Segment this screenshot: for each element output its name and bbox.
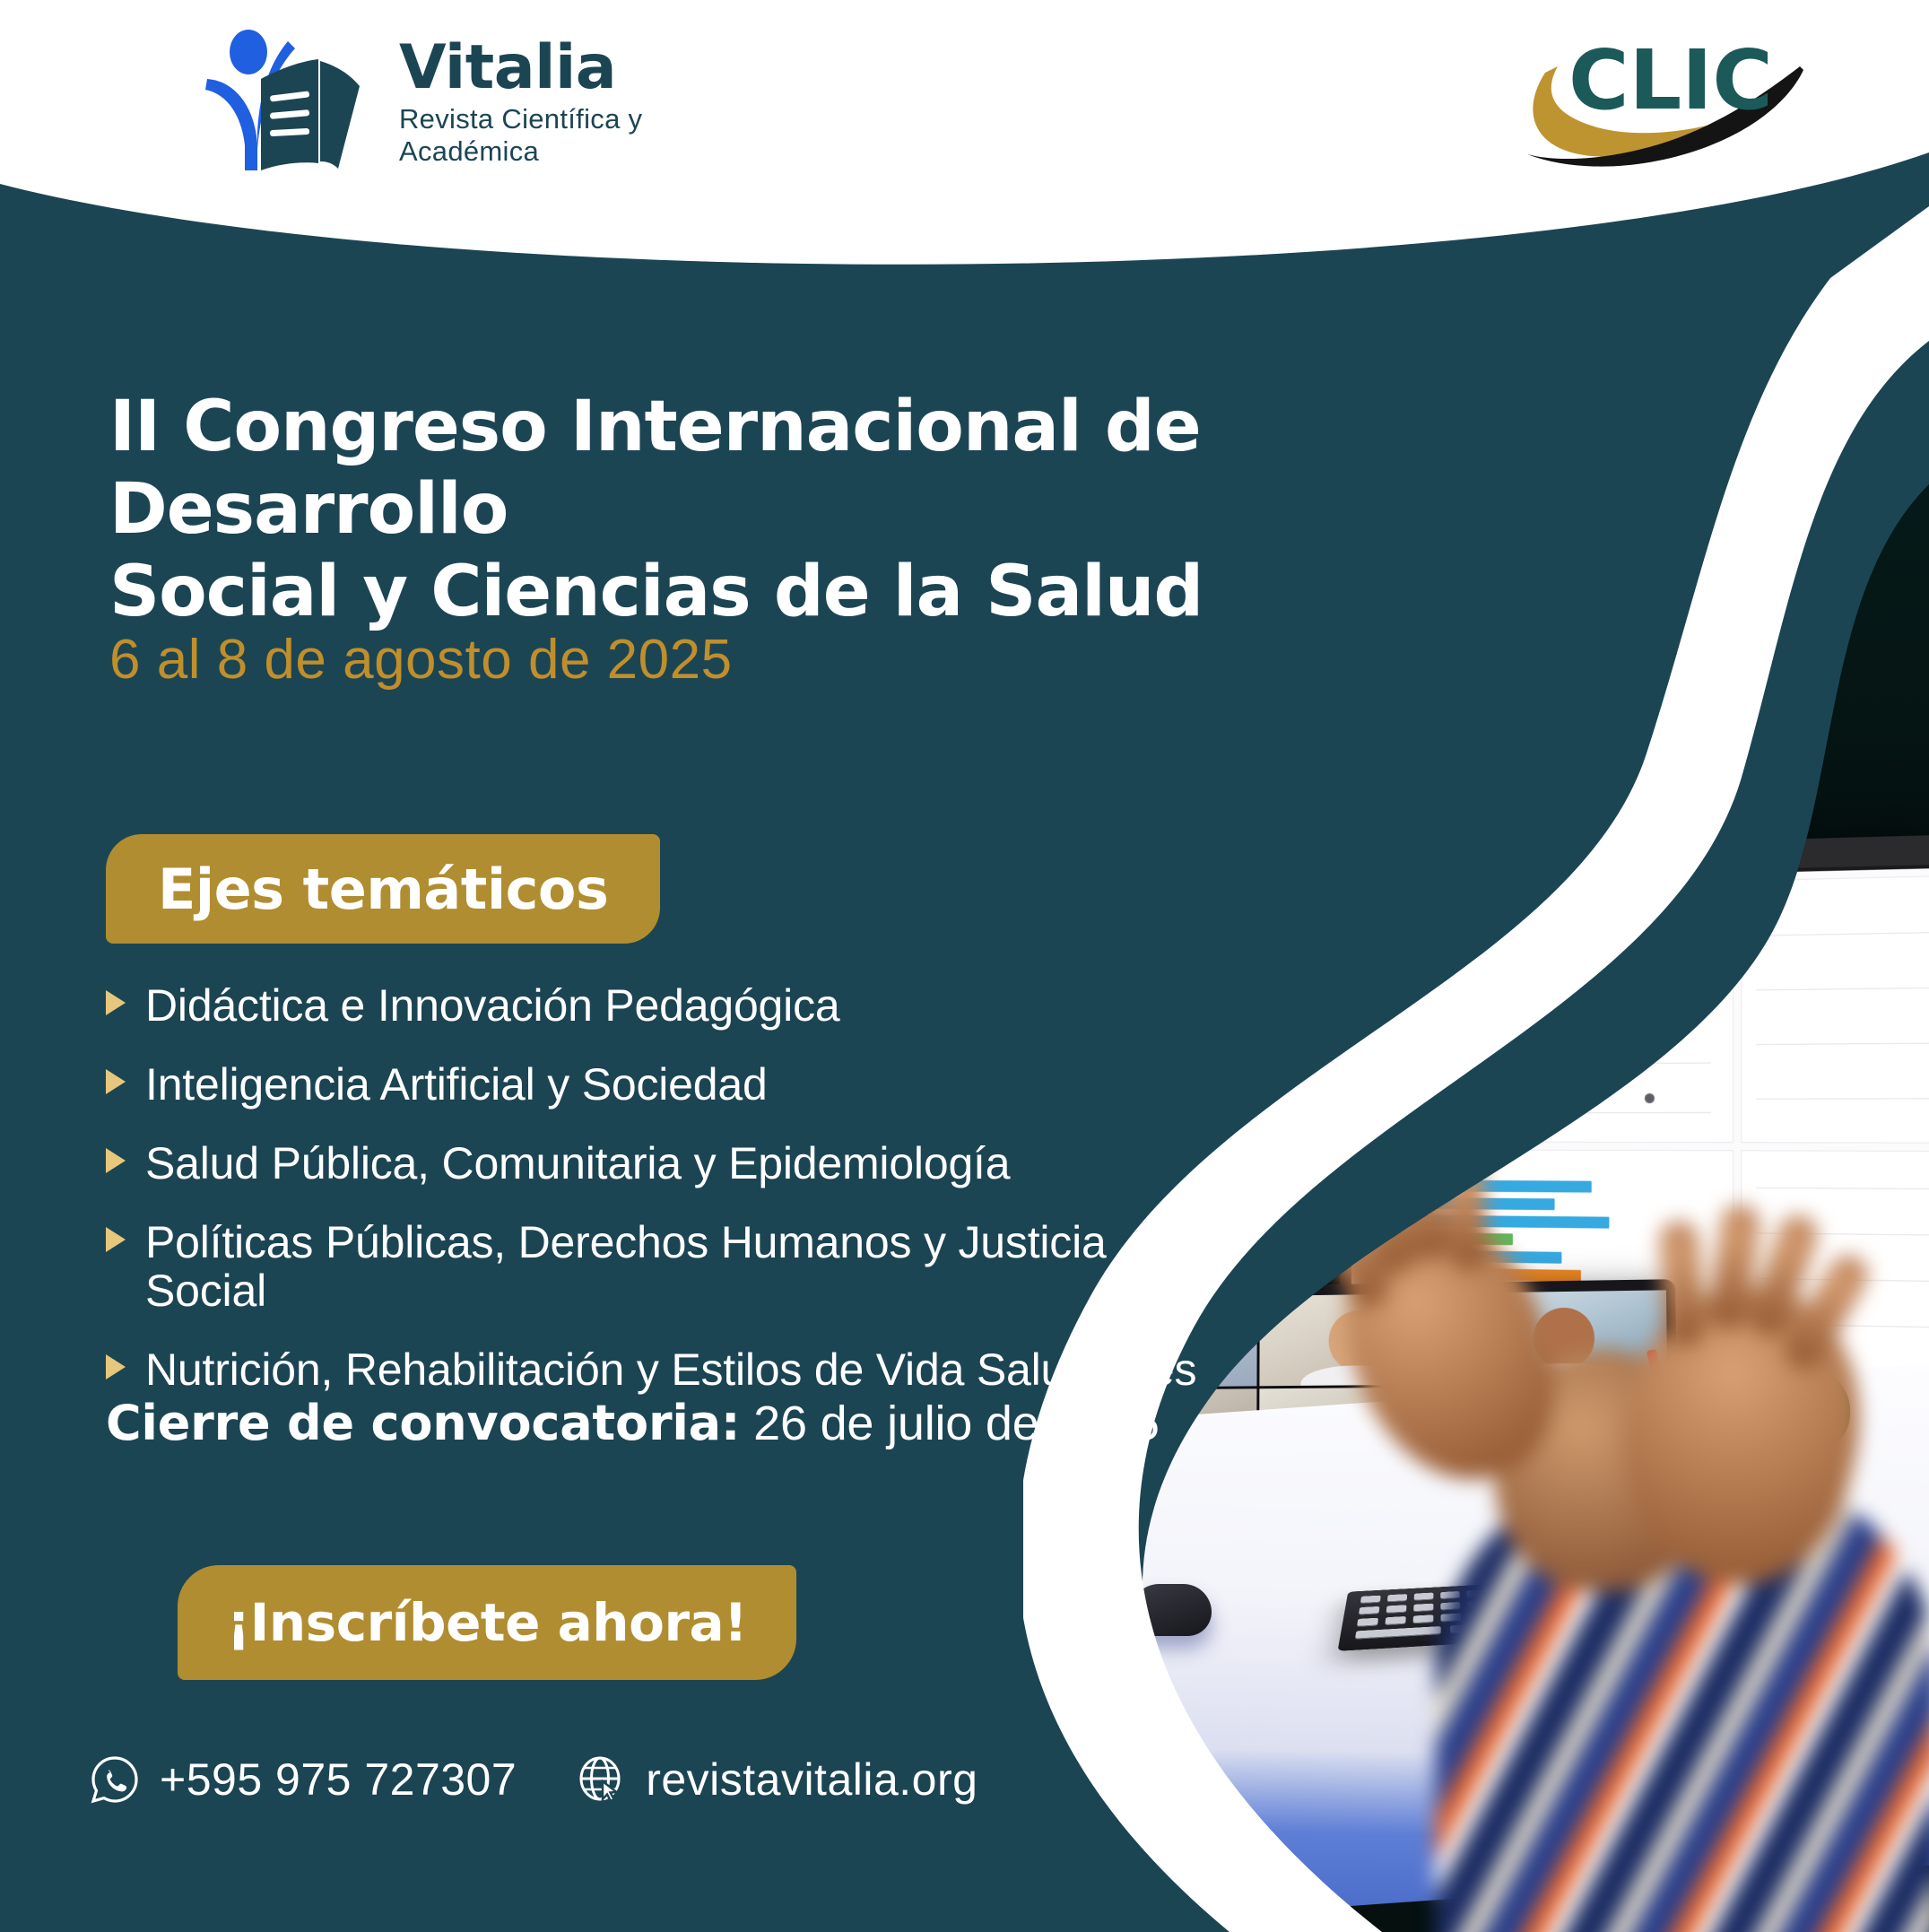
- topic-label: Inteligencia Artificial y Sociedad: [145, 1060, 768, 1109]
- ceiling-beam: [1265, 358, 1320, 629]
- title-line-2: Social y Ciencias de la Salud: [109, 552, 1203, 632]
- list-item: Nutrición, Rehabilitación y Estilos de V…: [106, 1345, 1200, 1394]
- topics-badge: Ejes temáticos: [106, 834, 660, 944]
- triangle-bullet-icon: [106, 1227, 126, 1252]
- topic-label: Salud Pública, Comunitaria y Epidemiolog…: [145, 1139, 1010, 1188]
- whatsapp-number: +595 975 727307: [160, 1754, 517, 1806]
- poster-canvas: Market Growth and Control: [0, 0, 1929, 1932]
- person-book-logo-icon: [202, 27, 372, 170]
- topic-label: Didáctica e Innovación Pedagógica: [145, 981, 839, 1030]
- window-dot-icon: [1388, 859, 1396, 868]
- website-url: revistavitalia.org: [646, 1754, 978, 1806]
- submission-deadline: Cierre de convocatoria: 26 de julio de 2…: [106, 1395, 1160, 1451]
- panel-title: Summary: [1742, 875, 1929, 898]
- register-button[interactable]: ¡Inscríbete ahora!: [178, 1565, 796, 1680]
- triangle-bullet-icon: [106, 1354, 126, 1379]
- contact-bar: +595 975 727307 revistavitalia.org: [90, 1754, 978, 1806]
- title-line-1: II Congreso Internacional de Desarrollo: [109, 387, 1201, 550]
- deadline-label: Cierre de convocatoria:: [106, 1395, 740, 1451]
- whatsapp-icon: [90, 1754, 140, 1805]
- triangle-bullet-icon: [106, 1148, 126, 1173]
- window-dot-icon: [1351, 860, 1360, 869]
- vitalia-logo: Vitalia Revista Científica y Académica: [202, 27, 776, 170]
- vitalia-wordmark: Vitalia: [399, 37, 776, 99]
- topics-badge-label: Ejes temáticos: [158, 857, 608, 922]
- triangle-bullet-icon: [106, 990, 126, 1015]
- list-item: Inteligencia Artificial y Sociedad: [106, 1060, 1200, 1109]
- window-dot-icon: [1370, 860, 1378, 869]
- vitalia-tagline: Revista Científica y Académica: [399, 103, 776, 168]
- end-call-icon: [1104, 1589, 1117, 1603]
- ceiling-beam: [1411, 349, 1457, 619]
- list-item: Didáctica e Innovación Pedagógica: [106, 981, 1200, 1030]
- list-item: Salud Pública, Comunitaria y Epidemiolog…: [106, 1139, 1200, 1188]
- deadline-value: 26 de julio de 2025: [740, 1397, 1159, 1450]
- event-dates: 6 al 8 de agosto de 2025: [109, 628, 733, 692]
- list-item: Políticas Públicas, Derechos Humanos y J…: [106, 1218, 1200, 1315]
- clic-wordmark: CLIC: [1568, 32, 1773, 128]
- topics-list: Didáctica e Innovación Pedagógica Inteli…: [106, 981, 1200, 1424]
- foreground-person: [1328, 963, 1929, 1932]
- page-title: II Congreso Internacional de Desarrollo …: [109, 386, 1212, 633]
- whatsapp-contact[interactable]: +595 975 727307: [90, 1754, 517, 1806]
- register-button-label: ¡Inscríbete ahora!: [227, 1592, 747, 1653]
- panel-title: Market Growth and Control: [1359, 882, 1733, 907]
- triangle-bullet-icon: [106, 1069, 126, 1094]
- topic-label: Nutrición, Rehabilitación y Estilos de V…: [145, 1345, 1196, 1394]
- neon-light: [1300, 570, 1508, 630]
- topic-label: Políticas Públicas, Derechos Humanos y J…: [145, 1218, 1200, 1315]
- computer-mouse: [1131, 1584, 1212, 1636]
- website-contact[interactable]: revistavitalia.org: [576, 1754, 978, 1806]
- globe-cursor-icon: [576, 1754, 626, 1805]
- clic-logo: CLIC: [1515, 23, 1829, 176]
